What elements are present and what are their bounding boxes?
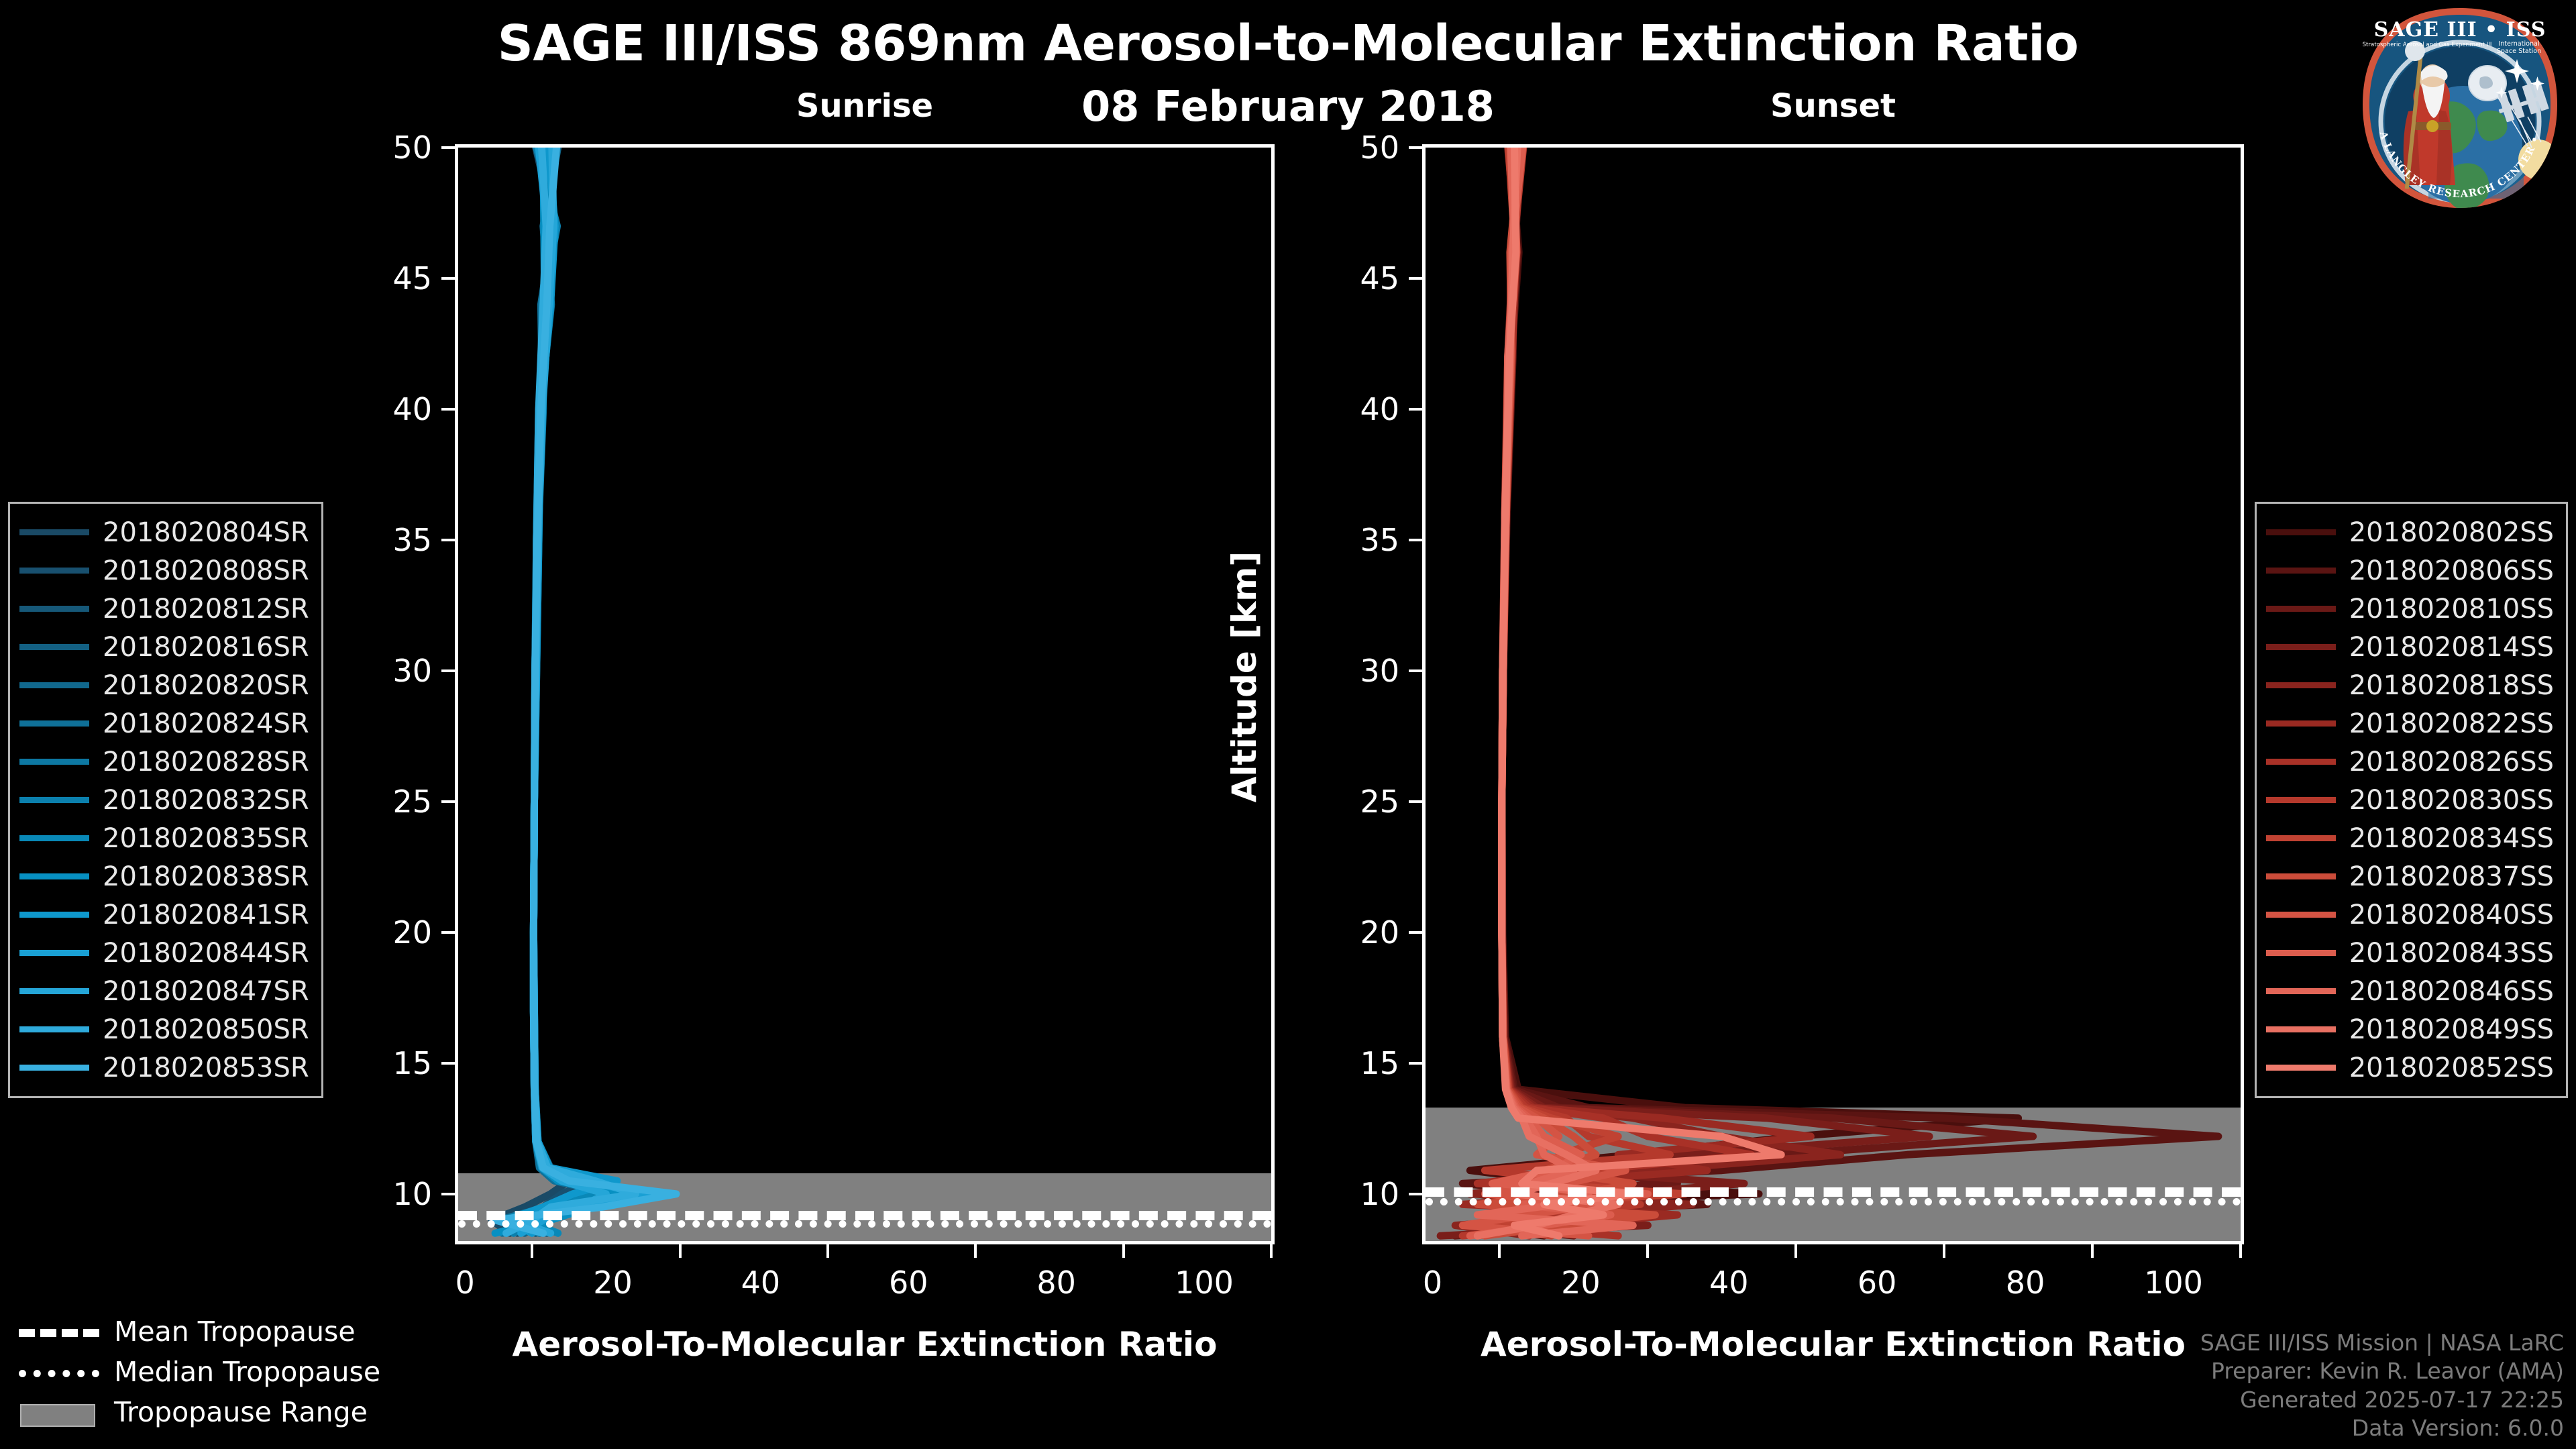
- y-tick: [1409, 931, 1422, 934]
- tropopause-legend-item: Median Tropopause: [19, 1352, 380, 1392]
- legend-item[interactable]: 2018020810SS: [2266, 590, 2554, 628]
- y-tick-label: 35: [1308, 522, 1399, 558]
- y-tick-label: 30: [1308, 653, 1399, 689]
- legend-item-label: 2018020840SS: [2349, 900, 2554, 930]
- y-tick: [441, 1062, 455, 1065]
- y-tick: [1409, 1193, 1422, 1195]
- legend-color-swatch: [2266, 912, 2336, 918]
- legend-item[interactable]: 2018020824SR: [19, 704, 309, 743]
- x-tick: [1646, 1244, 1649, 1258]
- legend-item-label: 2018020844SR: [103, 938, 309, 969]
- series-line: [1462, 148, 1670, 1236]
- y-tick-label: 20: [1308, 914, 1399, 951]
- y-tick: [441, 539, 455, 541]
- y-tick: [1409, 539, 1422, 541]
- y-tick: [441, 277, 455, 280]
- legend-color-swatch: [2266, 606, 2336, 612]
- legend-color-swatch: [19, 682, 89, 688]
- series-line: [1455, 148, 2218, 1236]
- legend-item-label: 2018020853SR: [103, 1053, 309, 1083]
- x-tick: [1943, 1244, 1945, 1258]
- legend-color-swatch: [19, 1065, 89, 1071]
- panel-title-sunset: Sunset: [1422, 87, 2244, 125]
- legend-color-swatch: [19, 529, 89, 535]
- y-tick-label: 50: [341, 129, 432, 166]
- x-tick-label: 20: [1513, 1265, 1648, 1301]
- legend-color-swatch: [19, 797, 89, 803]
- y-tick-label: 25: [1308, 784, 1399, 820]
- figure-root: SAGE III/ISS 869nm Aerosol-to-Molecular …: [0, 0, 2576, 1449]
- footer-line: Preparer: Kevin R. Leavor (AMA): [2200, 1357, 2564, 1385]
- x-tick-label: 100: [2106, 1265, 2241, 1301]
- legend-color-swatch: [2266, 682, 2336, 688]
- series-line: [1462, 148, 1625, 1236]
- series-line: [1502, 148, 1781, 1236]
- legend-color-swatch: [2266, 1026, 2336, 1032]
- series-lines: [458, 148, 1271, 1241]
- legend-item[interactable]: 2018020808SR: [19, 551, 309, 590]
- legend-color-swatch: [19, 912, 89, 918]
- legend-color-swatch: [19, 988, 89, 994]
- yaxis-label-sunset: Altitude [km]: [1225, 543, 1264, 811]
- legend-item-label: 2018020843SS: [2349, 938, 2554, 969]
- legend-item[interactable]: 2018020843SS: [2266, 934, 2554, 972]
- legend-item[interactable]: 2018020822SS: [2266, 704, 2554, 743]
- page-title: SAGE III/ISS 869nm Aerosol-to-Molecular …: [0, 15, 2576, 72]
- y-tick: [1409, 146, 1422, 149]
- series-lines: [1426, 148, 2241, 1241]
- legend-item[interactable]: 2018020837SS: [2266, 857, 2554, 896]
- y-tick: [441, 669, 455, 672]
- legend-item-label: 2018020802SS: [2349, 517, 2554, 548]
- dashed-line-icon: [19, 1324, 99, 1340]
- legend-item-label: 2018020830SS: [2349, 785, 2554, 816]
- x-tick: [826, 1244, 829, 1258]
- dotted-line-icon: [19, 1364, 99, 1380]
- legend-item[interactable]: 2018020830SS: [2266, 781, 2554, 819]
- series-line: [1477, 148, 1618, 1236]
- legend-item[interactable]: 2018020835SR: [19, 819, 309, 857]
- legend-color-swatch: [2266, 835, 2336, 841]
- x-tick-label: 80: [1958, 1265, 2092, 1301]
- footer-line: Data Version: 6.0.0: [2200, 1414, 2564, 1442]
- legend-item[interactable]: 2018020818SS: [2266, 666, 2554, 704]
- legend-color-swatch: [2266, 797, 2336, 803]
- y-tick: [441, 800, 455, 803]
- legend-item[interactable]: 2018020852SS: [2266, 1049, 2554, 1087]
- x-tick: [974, 1244, 977, 1258]
- legend-color-swatch: [2266, 1065, 2336, 1071]
- svg-text:Stratospheric Aerosol and Gas: Stratospheric Aerosol and Gas Experiment…: [2363, 42, 2492, 48]
- legend-item-label: 2018020820SR: [103, 670, 309, 701]
- series-line: [1470, 148, 2033, 1236]
- legend-item-label: 2018020824SR: [103, 708, 309, 739]
- legend-color-swatch: [19, 950, 89, 956]
- legend-item[interactable]: 2018020820SR: [19, 666, 309, 704]
- series-line: [492, 148, 570, 1233]
- footer-line: Generated 2025-07-17 22:25: [2200, 1386, 2564, 1414]
- x-tick-label: 100: [1137, 1265, 1271, 1301]
- y-tick-label: 45: [341, 260, 432, 297]
- legend-item-label: 2018020816SR: [103, 632, 309, 663]
- legend-item[interactable]: 2018020844SR: [19, 934, 309, 972]
- y-tick: [441, 408, 455, 411]
- legend-item-label: 2018020849SS: [2349, 1014, 2554, 1045]
- series-line: [1477, 148, 1752, 1236]
- svg-text:Space Station: Space Station: [2497, 48, 2541, 55]
- tropopause-legend-label: Median Tropopause: [114, 1356, 380, 1388]
- legend-item-label: 2018020841SR: [103, 900, 309, 930]
- legend-item[interactable]: 2018020840SS: [2266, 896, 2554, 934]
- legend-color-swatch: [19, 606, 89, 612]
- series-line: [510, 148, 610, 1233]
- median-tropopause-line: [1426, 1198, 2241, 1205]
- xaxis-label-sunrise: Aerosol-To-Molecular Extinction Ratio: [455, 1325, 1275, 1364]
- legend-item[interactable]: 2018020841SR: [19, 896, 309, 934]
- legend-item[interactable]: 2018020806SS: [2266, 551, 2554, 590]
- legend-color-swatch: [2266, 950, 2336, 956]
- y-tick-label: 40: [1308, 391, 1399, 427]
- legend-item[interactable]: 2018020849SS: [2266, 1010, 2554, 1049]
- legend-item[interactable]: 2018020850SR: [19, 1010, 309, 1049]
- legend-item[interactable]: 2018020847SR: [19, 972, 309, 1010]
- legend-sunrise[interactable]: 2018020804SR2018020808SR2018020812SR2018…: [8, 502, 323, 1098]
- y-tick: [1409, 277, 1422, 280]
- legend-item-label: 2018020850SR: [103, 1014, 309, 1045]
- series-line: [506, 148, 636, 1233]
- legend-color-swatch: [2266, 644, 2336, 650]
- legend-color-swatch: [19, 873, 89, 879]
- legend-item[interactable]: 2018020838SR: [19, 857, 309, 896]
- legend-item[interactable]: 2018020832SR: [19, 781, 309, 819]
- x-tick: [2239, 1244, 2242, 1258]
- y-tick-label: 15: [341, 1045, 432, 1081]
- filled-block-icon: [19, 1404, 99, 1420]
- legend-color-swatch: [2266, 568, 2336, 574]
- y-tick-label: 15: [1308, 1045, 1399, 1081]
- legend-item-label: 2018020804SR: [103, 517, 309, 548]
- legend-item-label: 2018020837SS: [2349, 861, 2554, 892]
- x-tick: [1270, 1244, 1273, 1258]
- y-tick: [1409, 1062, 1422, 1065]
- legend-item[interactable]: 2018020834SS: [2266, 819, 2554, 857]
- legend-item-label: 2018020847SR: [103, 976, 309, 1007]
- legend-tropopause: Mean TropopauseMedian TropopauseTropopau…: [19, 1311, 380, 1432]
- legend-item-label: 2018020828SR: [103, 747, 309, 777]
- sage3-iss-mission-patch-logo: SAGE III • ISS Stratospheric Aerosol and…: [2356, 4, 2564, 212]
- mean-tropopause-line: [1426, 1187, 2241, 1197]
- legend-sunset[interactable]: 2018020802SS2018020806SS2018020810SS2018…: [2255, 502, 2568, 1098]
- y-tick-label: 30: [341, 653, 432, 689]
- x-tick-label: 20: [546, 1265, 680, 1301]
- series-line: [1462, 148, 2018, 1236]
- svg-text:International: International: [2498, 40, 2539, 48]
- x-tick-label: 0: [398, 1265, 532, 1301]
- legend-item-label: 2018020812SR: [103, 594, 309, 625]
- legend-item[interactable]: 2018020846SS: [2266, 972, 2554, 1010]
- y-tick-label: 45: [1308, 260, 1399, 297]
- y-tick-label: 20: [341, 914, 432, 951]
- tropopause-legend-label: Tropopause Range: [114, 1396, 368, 1428]
- legend-item-label: 2018020808SR: [103, 555, 309, 586]
- legend-item-label: 2018020834SS: [2349, 823, 2554, 854]
- mean-tropopause-line: [458, 1211, 1271, 1220]
- y-tick: [441, 931, 455, 934]
- x-tick: [679, 1244, 682, 1258]
- legend-item-label: 2018020852SS: [2349, 1053, 2554, 1083]
- legend-item[interactable]: 2018020826SS: [2266, 743, 2554, 781]
- legend-item-label: 2018020814SS: [2349, 632, 2554, 663]
- legend-item-label: 2018020838SR: [103, 861, 309, 892]
- legend-item[interactable]: 2018020812SR: [19, 590, 309, 628]
- y-tick-label: 10: [341, 1176, 432, 1212]
- y-tick: [1409, 408, 1422, 411]
- legend-color-swatch: [19, 759, 89, 765]
- x-tick: [1122, 1244, 1125, 1258]
- tropopause-legend-label: Mean Tropopause: [114, 1316, 356, 1348]
- y-tick: [441, 146, 455, 149]
- legend-item[interactable]: 2018020853SR: [19, 1049, 309, 1087]
- legend-item[interactable]: 2018020816SR: [19, 628, 309, 666]
- series-line: [1470, 148, 1648, 1236]
- plot-area-sunset: [1426, 148, 2241, 1241]
- x-tick-label: 60: [841, 1265, 975, 1301]
- legend-item[interactable]: 2018020804SR: [19, 513, 309, 551]
- series-line: [495, 148, 676, 1233]
- svg-text:SAGE III • ISS: SAGE III • ISS: [2374, 18, 2546, 42]
- legend-color-swatch: [19, 835, 89, 841]
- series-line: [514, 148, 606, 1233]
- x-tick: [1498, 1244, 1501, 1258]
- y-tick: [1409, 669, 1422, 672]
- y-tick-label: 25: [341, 784, 432, 820]
- x-tick-label: 0: [1365, 1265, 1499, 1301]
- x-tick: [1794, 1244, 1797, 1258]
- plot-area-sunrise: [458, 148, 1271, 1241]
- x-tick-label: 60: [1810, 1265, 1944, 1301]
- legend-color-swatch: [19, 644, 89, 650]
- series-line: [495, 148, 621, 1233]
- x-tick: [2091, 1244, 2094, 1258]
- series-line: [506, 148, 617, 1233]
- y-tick-label: 50: [1308, 129, 1399, 166]
- x-tick: [531, 1244, 533, 1258]
- legend-color-swatch: [2266, 720, 2336, 727]
- x-tick-label: 40: [1662, 1265, 1796, 1301]
- xaxis-label-sunset: Aerosol-To-Molecular Extinction Ratio: [1422, 1325, 2244, 1364]
- tropopause-legend-item: Tropopause Range: [19, 1392, 380, 1432]
- legend-item-label: 2018020826SS: [2349, 747, 2554, 777]
- legend-color-swatch: [2266, 759, 2336, 765]
- median-tropopause-line: [458, 1220, 1271, 1228]
- legend-item[interactable]: 2018020814SS: [2266, 628, 2554, 666]
- legend-item-label: 2018020806SS: [2349, 555, 2554, 586]
- legend-item-label: 2018020822SS: [2349, 708, 2554, 739]
- legend-color-swatch: [19, 1026, 89, 1032]
- legend-color-swatch: [19, 720, 89, 727]
- y-tick-label: 40: [341, 391, 432, 427]
- legend-color-swatch: [2266, 873, 2336, 879]
- legend-color-swatch: [19, 568, 89, 574]
- plot-sunrise: [455, 144, 1275, 1244]
- panel-title-sunrise: Sunrise: [455, 87, 1275, 125]
- plot-sunset: [1422, 144, 2244, 1244]
- series-line: [502, 148, 613, 1233]
- legend-item-label: 2018020810SS: [2349, 594, 2554, 625]
- legend-item-label: 2018020832SR: [103, 785, 309, 816]
- footer-line: SAGE III/ISS Mission | NASA LaRC: [2200, 1329, 2564, 1357]
- legend-item-label: 2018020835SR: [103, 823, 309, 854]
- x-tick-label: 80: [989, 1265, 1124, 1301]
- legend-item-label: 2018020818SS: [2349, 670, 2554, 701]
- legend-item[interactable]: 2018020802SS: [2266, 513, 2554, 551]
- tropopause-legend-item: Mean Tropopause: [19, 1311, 380, 1352]
- legend-item-label: 2018020846SS: [2349, 976, 2554, 1007]
- footer-credits: SAGE III/ISS Mission | NASA LaRCPreparer…: [2200, 1329, 2564, 1442]
- y-tick-label: 35: [341, 522, 432, 558]
- legend-color-swatch: [2266, 529, 2336, 535]
- y-tick: [441, 1193, 455, 1195]
- legend-item[interactable]: 2018020828SR: [19, 743, 309, 781]
- y-tick-label: 10: [1308, 1176, 1399, 1212]
- legend-color-swatch: [2266, 988, 2336, 994]
- x-tick-label: 40: [694, 1265, 828, 1301]
- y-tick: [1409, 800, 1422, 803]
